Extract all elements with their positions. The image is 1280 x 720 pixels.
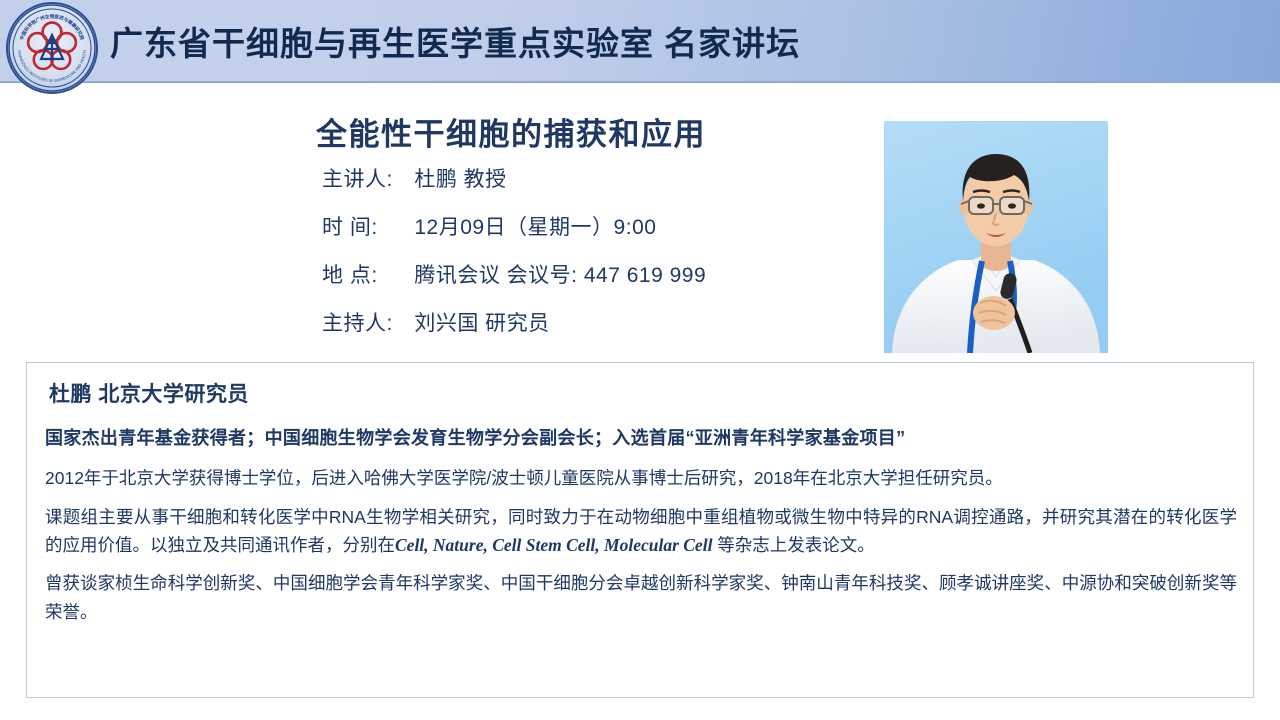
speaker-label: 主讲人:	[322, 163, 408, 193]
speaker-bio-box: 杜鹏 北京大学研究员 国家杰出青年基金获得者；中国细胞生物学会发育生物学分会副会…	[26, 362, 1254, 698]
lecture-details-list: 主讲人: 杜鹏 教授 时 间: 12月09日（星期一）9:00 地 点: 腾讯会…	[322, 163, 882, 355]
bio-honors: 国家杰出青年基金获得者；中国细胞生物学会发育生物学分会副会长；入选首届“亚洲青年…	[45, 426, 1237, 450]
bio-name: 杜鹏 北京大学研究员	[49, 378, 1237, 408]
lecture-detail-host: 主持人: 刘兴国 研究员	[322, 307, 882, 337]
bio-research-text-end: 等杂志上发表论文。	[712, 535, 874, 555]
header-title: 广东省干细胞与再生医学重点实验室 名家讲坛	[110, 17, 800, 65]
lecture-detail-venue: 地 点: 腾讯会议 会议号: 447 619 999	[322, 259, 882, 289]
lecture-detail-time: 时 间: 12月09日（星期一）9:00	[322, 211, 882, 241]
venue-value: 腾讯会议 会议号: 447 619 999	[414, 264, 706, 287]
bio-journal-names: Cell, Nature, Cell Stem Cell, Molecular …	[395, 535, 712, 555]
header-content: 广东省干细胞与再生医学重点实验室 名家讲坛	[0, 0, 1280, 81]
lecture-detail-speaker: 主讲人: 杜鹏 教授	[322, 163, 882, 193]
venue-label: 地 点:	[322, 259, 408, 289]
institute-logo-icon: 中国科学院广州生物医药与健康研究院 GUANGZHOU INSTITUTES O…	[6, 2, 98, 94]
lecture-title: 全能性干细胞的捕获和应用	[316, 109, 706, 154]
speaker-value: 杜鹏 教授	[414, 168, 506, 191]
time-value: 12月09日（星期一）9:00	[414, 216, 656, 239]
time-label: 时 间:	[322, 211, 408, 241]
bio-paragraph-education: 2012年于北京大学获得博士学位，后进入哈佛大学医学院/波士顿儿童医院从事博士后…	[45, 464, 1237, 492]
bio-paragraph-research: 课题组主要从事干细胞和转化医学中RNA生物学相关研究，同时致力于在动物细胞中重组…	[45, 503, 1237, 560]
header-banner: 广东省干细胞与再生医学重点实验室 名家讲坛	[0, 0, 1280, 83]
speaker-photo	[884, 121, 1108, 353]
host-value: 刘兴国 研究员	[414, 312, 549, 335]
host-label: 主持人:	[322, 307, 408, 337]
bio-paragraph-awards: 曾获谈家桢生命科学创新奖、中国细胞学会青年科学家奖、中国干细胞分会卓越创新科学家…	[45, 569, 1237, 626]
